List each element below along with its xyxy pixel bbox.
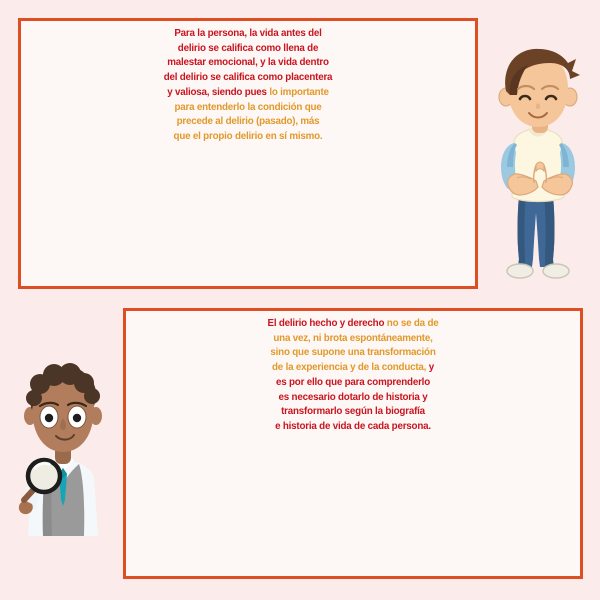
quote-line: es necesario dotarlo de historia y (130, 391, 576, 406)
quote-segment-orange: de la experiencia y de la conducta, (272, 362, 429, 373)
bottom-quote-text: El delirio hecho y derecho no se da deun… (126, 311, 580, 435)
quote-line: delirio se califica como llena de (25, 42, 471, 57)
quote-line: Para la persona, la vida antes del (25, 27, 471, 42)
quote-line: sino que supone una transformación (130, 346, 576, 361)
quote-segment-red: es por ello que para comprenderlo (276, 377, 430, 388)
quote-segment-orange: para entenderlo la condición que (174, 102, 321, 113)
quote-segment-red: y (429, 362, 434, 373)
quote-segment-orange: lo importante (269, 87, 328, 98)
infographic-canvas: Para la persona, la vida antes deldeliri… (0, 0, 600, 600)
quote-segment-orange: sino que supone una transformación (270, 347, 435, 358)
quote-segment-orange: no se da de (387, 318, 439, 329)
quote-line: e historia de vida de cada persona. (130, 420, 576, 435)
quote-segment-red: Para la persona, la vida antes del (174, 28, 321, 39)
quote-line: de la experiencia y de la conducta, y (130, 361, 576, 376)
quote-line: y valiosa, siendo pues lo importante (25, 86, 471, 101)
quote-line: del delirio se califica como placentera (25, 71, 471, 86)
quote-segment-orange: una vez, ni brota espontáneamente, (273, 333, 432, 344)
top-quote-text: Para la persona, la vida antes deldeliri… (21, 21, 475, 145)
shy-boy-illustration (484, 45, 596, 290)
quote-line: una vez, ni brota espontáneamente, (130, 332, 576, 347)
quote-segment-red: transformarlo según la biografía (281, 406, 425, 417)
doctor-with-magnifier-illustration (4, 360, 122, 550)
quote-segment-orange: precede al delirio (pasado), más (177, 116, 320, 127)
quote-line: que el propio delirio en sí mismo. (25, 130, 471, 145)
quote-segment-red: es necesario dotarlo de historia y (279, 392, 428, 403)
quote-line: malestar emocional, y la vida dentro (25, 56, 471, 71)
quote-segment-red: del delirio se califica como placentera (164, 72, 333, 83)
quote-line: El delirio hecho y derecho no se da de (130, 317, 576, 332)
quote-segment-red: El delirio hecho y derecho (268, 318, 387, 329)
quote-line: transformarlo según la biografía (130, 405, 576, 420)
quote-line: es por ello que para comprenderlo (130, 376, 576, 391)
quote-segment-orange: que el propio delirio en sí mismo. (174, 131, 323, 142)
quote-line: para entenderlo la condición que (25, 101, 471, 116)
quote-line: precede al delirio (pasado), más (25, 115, 471, 130)
quote-segment-red: delirio se califica como llena de (178, 43, 318, 54)
quote-segment-red: malestar emocional, y la vida dentro (167, 57, 329, 68)
top-quote-box: Para la persona, la vida antes deldeliri… (18, 18, 478, 289)
quote-segment-red: y valiosa, siendo pues (167, 87, 269, 98)
bottom-quote-box: El delirio hecho y derecho no se da deun… (123, 308, 583, 579)
quote-segment-red: e historia de vida de cada persona. (275, 421, 431, 432)
